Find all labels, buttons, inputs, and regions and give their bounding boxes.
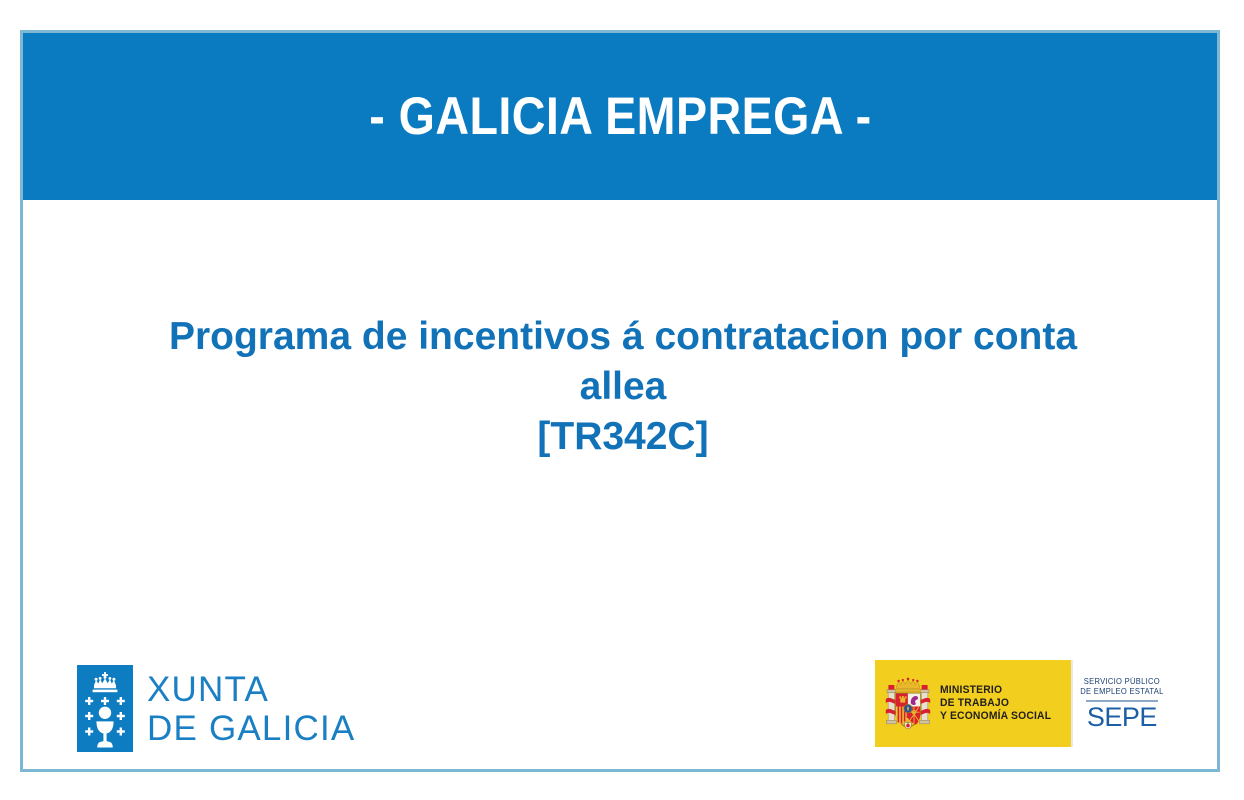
logo-row: XUNTA DE GALICIA [23,200,1217,769]
page-title-line-1: Programa de incentivos á contratacion po… [93,312,1153,362]
header-banner: - GALICIA EMPREGA - [23,33,1217,200]
xunta-galicia-emblem-icon [77,665,133,752]
ministerio-sepe-logo: MINISTERIO DE TRABAJO Y ECONOMÍA SOCIAL … [875,660,1165,747]
xunta-wordmark: XUNTA DE GALICIA [147,670,355,748]
page-title: Programa de incentivos á contratacion po… [93,312,1153,462]
slide-card: - GALICIA EMPREGA - Programa de incentiv… [20,30,1220,772]
sepe-panel: SERVICIO PÚBLICO DE EMPLEO ESTATAL SEPE [1071,660,1171,747]
page-title-line-3: [TR342C] [93,412,1153,462]
sepe-tagline-line-1: SERVICIO PÚBLICO [1080,677,1163,687]
ministerio-panel: MINISTERIO DE TRABAJO Y ECONOMÍA SOCIAL [875,660,1071,747]
ministerio-line-3: Y ECONOMÍA SOCIAL [940,710,1051,723]
spain-coat-of-arms-icon [885,675,931,733]
sepe-tagline: SERVICIO PÚBLICO DE EMPLEO ESTATAL [1080,677,1163,697]
page-title-line-2: allea [93,362,1153,412]
header-title: - GALICIA EMPREGA - [369,90,871,143]
xunta-de-galicia-logo: XUNTA DE GALICIA [77,665,355,752]
sepe-acronym: SEPE [1087,703,1157,732]
xunta-wordmark-line-2: DE GALICIA [147,709,355,748]
xunta-wordmark-line-1: XUNTA [147,670,355,709]
ministerio-line-1: MINISTERIO [940,684,1051,697]
sepe-tagline-line-2: DE EMPLEO ESTATAL [1080,687,1163,697]
ministerio-wordmark: MINISTERIO DE TRABAJO Y ECONOMÍA SOCIAL [940,684,1051,723]
slide-body: Programa de incentivos á contratacion po… [23,200,1217,769]
ministerio-line-2: DE TRABAJO [940,697,1051,710]
